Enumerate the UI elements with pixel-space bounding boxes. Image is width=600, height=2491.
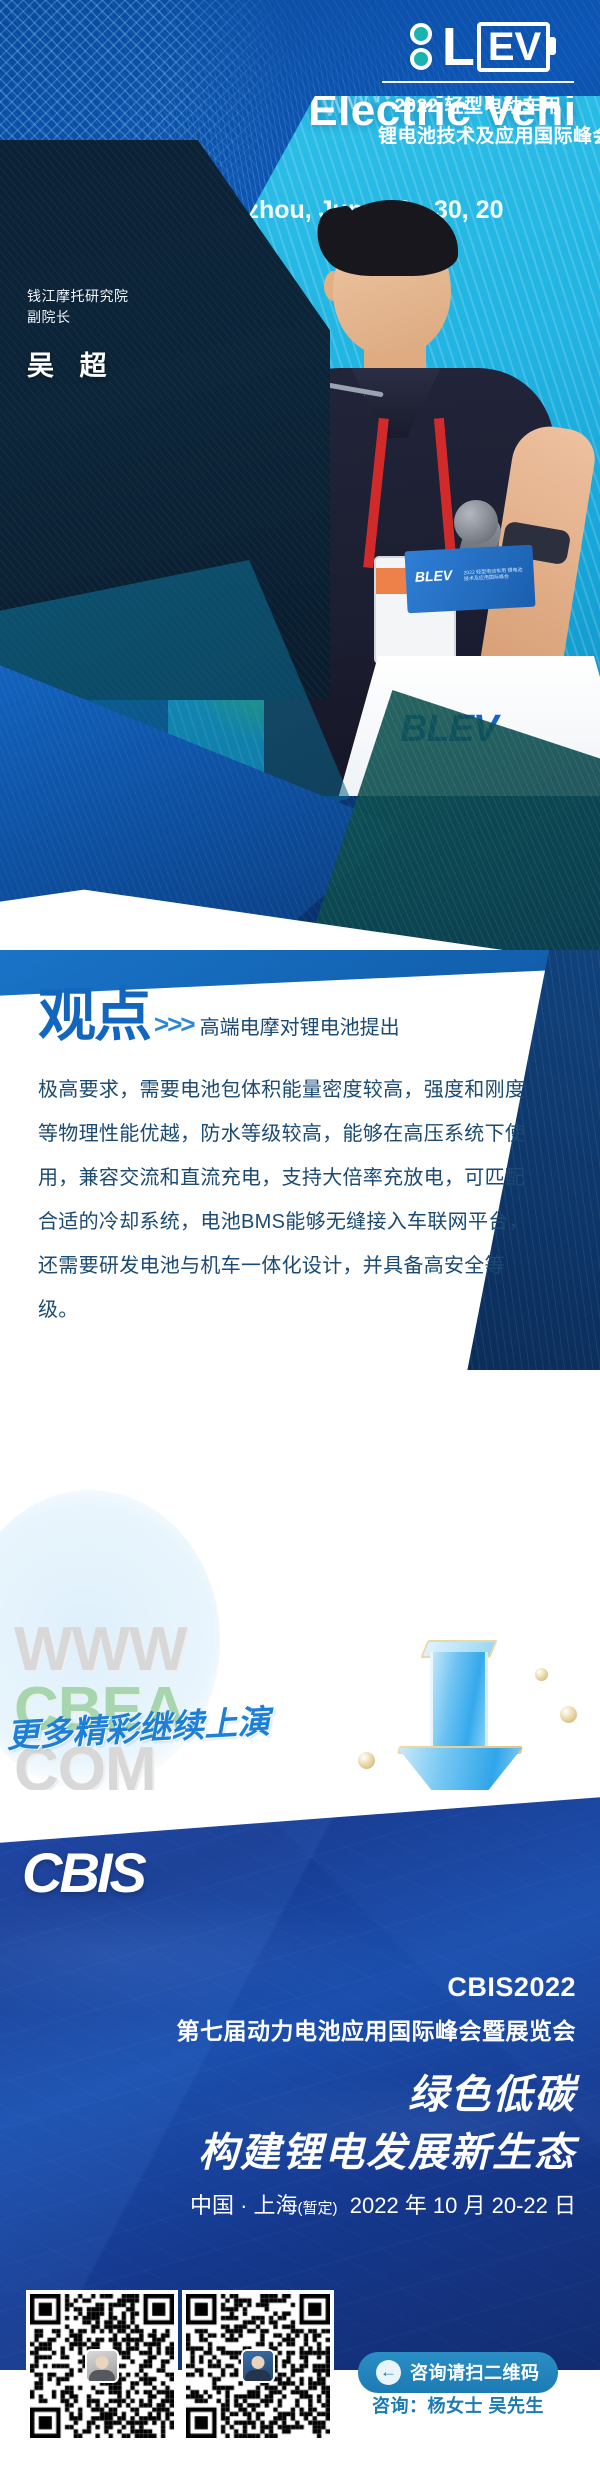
arrow-shaft	[430, 1652, 488, 1758]
scan-qr-button[interactable]: ← 咨询请扫二维码	[358, 2352, 558, 2393]
arrow-left-icon: ←	[376, 2360, 401, 2385]
blev-logo: L EV 2022 轻型电动车用 锂电池技术及应用国际峰会	[378, 22, 578, 148]
scan-qr-label: 咨询请扫二维码	[410, 2359, 540, 2385]
cbis-logo: CBIS	[22, 1840, 144, 1905]
speaker-info: 钱江摩托研究院 副院长 吴 超	[27, 286, 129, 383]
speaker-job-title: 副院长	[27, 307, 129, 328]
watermark-line-1: WWW	[14, 1620, 187, 1680]
cbis-venue: 中国 · 上海	[190, 2193, 298, 2218]
down-arrow-icon	[402, 1652, 518, 1810]
ribbon-banner: 更多精彩继续上演	[6, 1702, 416, 1762]
quote-arrows-icon: >>>	[154, 1009, 194, 1040]
quote-body-text: 极高要求，需要电池包体积能量密度较高，强度和刚度等物理性能优越，防水等级较高，能…	[38, 1068, 543, 1332]
footer-contact: ← 咨询请扫二维码 咨询：杨女士 吴先生	[0, 2370, 600, 2491]
mic-flag-subtitle: 2022 轻型电动车用 锂电池技术及应用国际峰会	[464, 567, 527, 582]
blev-subtitle-line-2: 锂电池技术及应用国际峰会	[378, 121, 578, 148]
quote-first-line: 高端电摩对锂电池提出	[200, 1014, 400, 1042]
qr-code-2[interactable]	[182, 2290, 334, 2442]
quote-label: 观点	[38, 988, 150, 1044]
blev-divider	[382, 81, 574, 83]
hero-banner: uty Electric Vehi angzhou, June 29 - 30,…	[0, 0, 600, 960]
blev-b-glyph-icon	[406, 22, 440, 72]
qr-avatar-2	[241, 2349, 275, 2383]
quote-section: 观点 >>> 高端电摩对锂电池提出 极高要求，需要电池包体积能量密度较高，强度和…	[0, 950, 600, 1480]
contact-persons: 咨询：杨女士 吴先生	[372, 2392, 544, 2418]
blev-ev-battery-icon: EV	[477, 22, 550, 72]
microphone-head	[454, 500, 498, 544]
blev-l-letter: L	[442, 24, 473, 70]
speaker-name: 吴 超	[27, 344, 129, 383]
cbis-venue-note: (暂定)	[298, 2200, 338, 2217]
decor-bead-2	[560, 1706, 577, 1723]
decor-bead-1	[535, 1668, 548, 1681]
speaker-organization: 钱江摩托研究院	[27, 286, 129, 307]
cbis-slogan-line-2: 构建锂电发展新生态	[198, 2120, 576, 2178]
cbis-venue-date: 中国 · 上海(暂定) 2022 年 10 月 20-22 日	[190, 2188, 576, 2220]
mic-flag-logo: BLEV	[414, 567, 452, 585]
ribbon-text: 更多精彩继续上演	[5, 1695, 271, 1758]
cbis-slogan-line-1: 绿色低碳	[408, 2062, 576, 2120]
watermark-section: WWW CBEA COM 更多精彩继续上演	[0, 1480, 600, 1810]
cbis-subtitle: 第七届动力电池应用国际峰会暨展览会	[177, 2012, 577, 2046]
qr-code-1[interactable]	[26, 2290, 178, 2442]
cbis-date: 2022 年 10 月 20-22 日	[350, 2193, 576, 2218]
blev-subtitle-line-1: 2022 轻型电动车用	[378, 91, 578, 118]
microphone-flag: BLEV 2022 轻型电动车用 锂电池技术及应用国际峰会	[404, 545, 535, 614]
blev-logo-mark: L EV	[378, 22, 578, 72]
quote-header: 观点 >>> 高端电摩对锂电池提出	[38, 988, 400, 1044]
cbis-promo-panel: CBIS CBIS2022 第七届动力电池应用国际峰会暨展览会 绿色低碳 构建锂…	[0, 1790, 600, 2370]
qr-avatar-1	[85, 2349, 119, 2383]
cbis-year-title: CBIS2022	[447, 1972, 576, 2003]
